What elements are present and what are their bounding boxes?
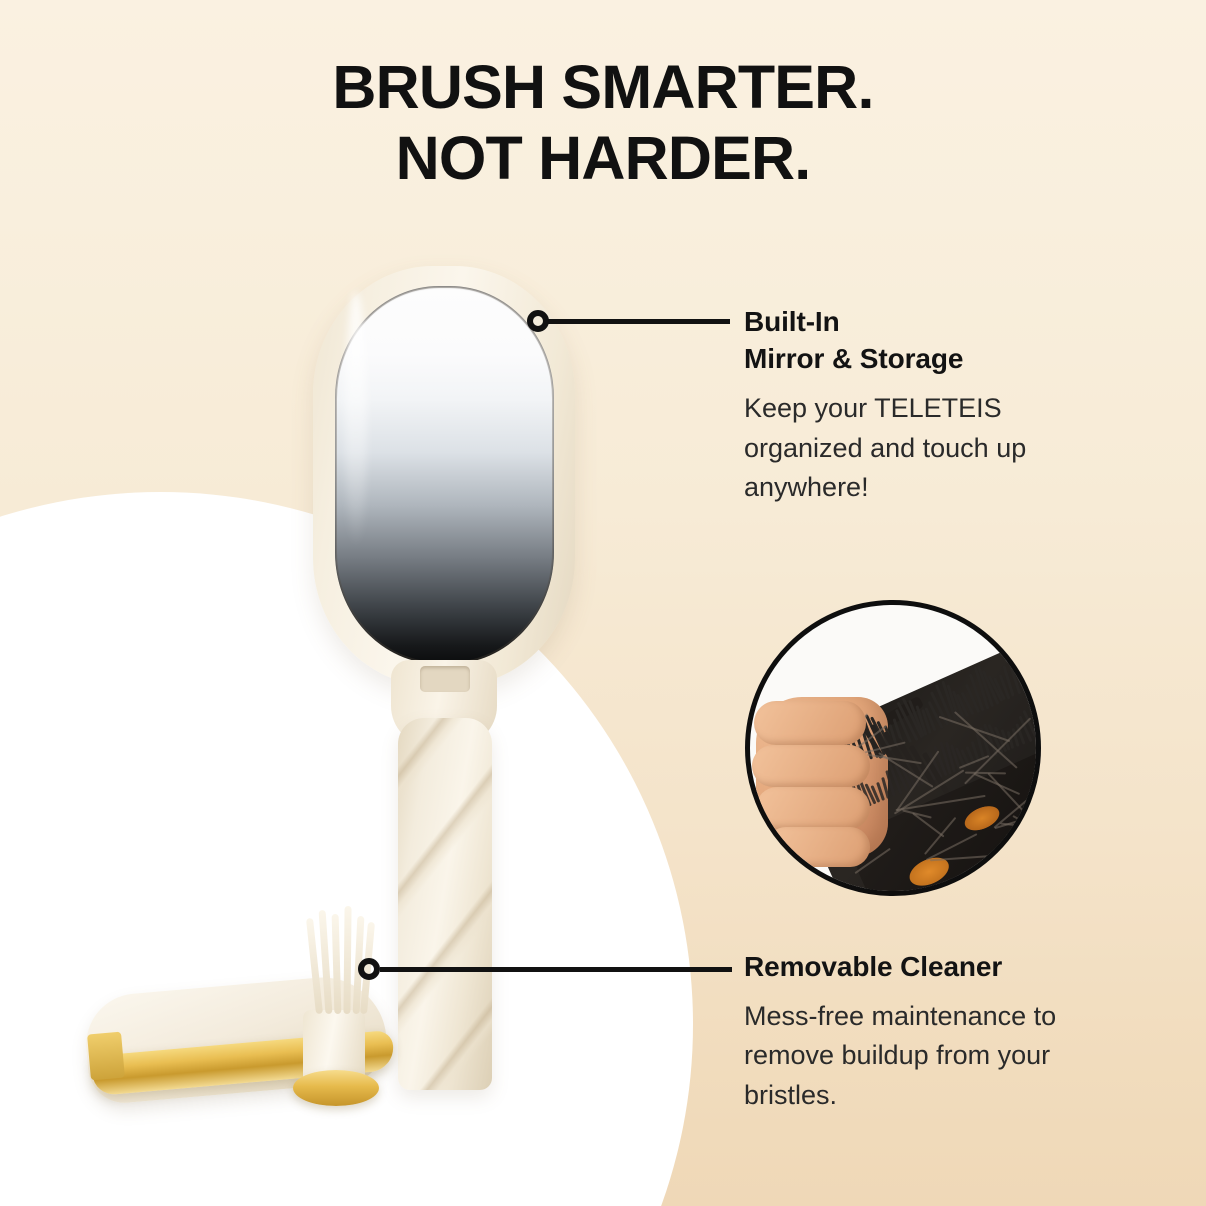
cleaner-tool-gold-base xyxy=(293,1070,379,1106)
feature-mirror-title: Built-In Mirror & Storage xyxy=(744,303,1094,377)
feature-mirror-body: Keep your TELETEIS organized and touch u… xyxy=(744,389,1094,506)
mirror-callout-dot-icon xyxy=(527,310,549,332)
mirror-callout-line xyxy=(548,319,730,324)
feature-mirror-title-line-2: Mirror & Storage xyxy=(744,343,963,374)
twisted-handle xyxy=(398,718,492,1090)
neck-latch xyxy=(420,666,470,692)
cleaner-prong xyxy=(332,914,342,1014)
finger xyxy=(756,787,870,829)
cleaner-callout-line xyxy=(380,967,732,972)
cleaner-callout-dot-icon xyxy=(358,958,380,980)
cleaner-in-use-photo xyxy=(745,600,1041,896)
feature-cleaner-title: Removable Cleaner xyxy=(744,948,1114,985)
finger xyxy=(766,827,870,867)
infographic-canvas: BRUSH SMARTER. NOT HARDER. Built-In Mirr… xyxy=(0,0,1206,1206)
photo-inset-contents xyxy=(750,605,1036,891)
feature-removable-cleaner: Removable Cleaner Mess-free maintenance … xyxy=(744,948,1114,1115)
finger xyxy=(752,745,870,787)
finger xyxy=(754,701,866,745)
feature-mirror-title-line-1: Built-In xyxy=(744,306,840,337)
cleaner-prong xyxy=(343,906,351,1014)
storage-case-hinge xyxy=(87,1032,125,1081)
mirror-glass xyxy=(335,286,554,664)
feature-cleaner-body: Mess-free maintenance to remove buildup … xyxy=(744,997,1114,1114)
feature-mirror-storage: Built-In Mirror & Storage Keep your TELE… xyxy=(744,303,1094,507)
